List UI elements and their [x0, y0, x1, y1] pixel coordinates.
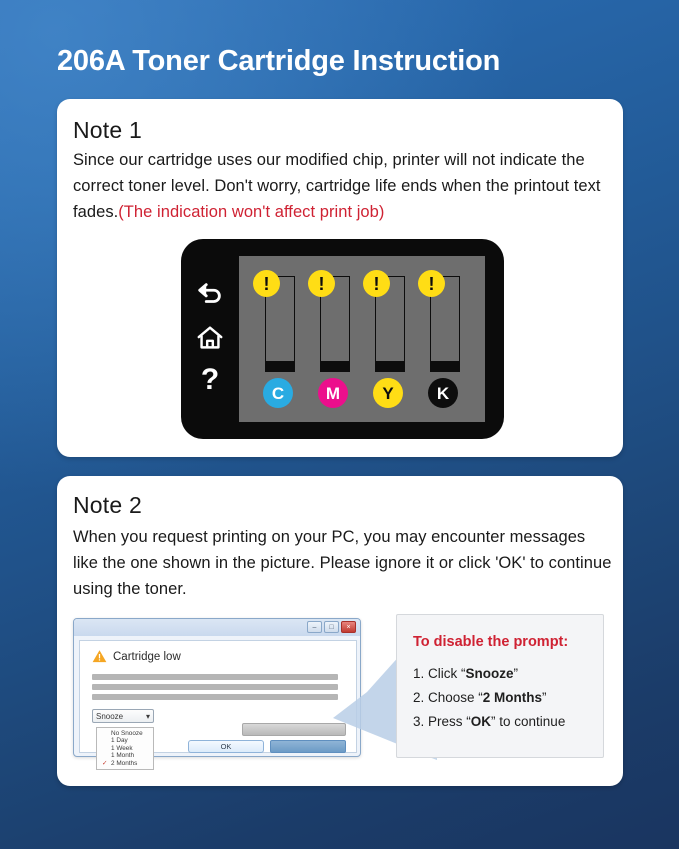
note-1-body-red-text: (The indication won't affect print job) — [118, 203, 384, 221]
placeholder-text-line — [92, 684, 338, 690]
help-icon[interactable]: ? — [195, 365, 225, 395]
dialog-title-bar: – □ × — [74, 619, 360, 636]
callout-title: To disable the prompt: — [413, 634, 568, 650]
ink-label-y: Y — [373, 378, 403, 408]
maximize-button[interactable]: □ — [324, 621, 339, 633]
ink-label-m: M — [318, 378, 348, 408]
step-number: 3. — [413, 714, 424, 729]
step-pre: Click “ — [424, 666, 465, 681]
dialog-body: Cartridge low Snooze ▾ No Snooze 1 Day 1… — [79, 640, 357, 753]
list-item[interactable]: 1 Week — [97, 745, 153, 752]
callout-step-2: 2. Choose “2 Months” — [413, 686, 597, 710]
step-number: 1. — [413, 666, 424, 681]
page-title: 206A Toner Cartridge Instruction — [57, 45, 500, 78]
snooze-dropdown-value: Snooze — [96, 712, 123, 721]
callout-step-3: 3. Press “OK” to continue — [413, 710, 597, 734]
panel-button-strip: ? — [181, 239, 239, 439]
dialog-gray-field — [242, 723, 346, 736]
step-post: ” to continue — [491, 714, 565, 729]
minimize-button[interactable]: – — [307, 621, 322, 633]
note-1-card: Note 1 Since our cartridge uses our modi… — [57, 99, 623, 457]
home-icon[interactable] — [195, 323, 225, 353]
dialog-warning-title: Cartridge low — [113, 651, 181, 663]
chevron-down-icon: ▾ — [146, 712, 150, 721]
warning-icon: ! — [418, 270, 445, 297]
note-2-body: When you request printing on your PC, yo… — [73, 524, 613, 602]
gauge-fill — [266, 361, 294, 371]
toner-gauge-group: ! C ! M ! Y — [255, 270, 469, 410]
ink-label-k: K — [428, 378, 458, 408]
cartridge-low-dialog: – □ × Cartridge low — [73, 618, 361, 757]
callout-step-1: 1. Click “Snooze” — [413, 662, 597, 686]
gauge-fill — [431, 361, 459, 371]
back-icon[interactable] — [195, 279, 225, 309]
page-content: 206A Toner Cartridge Instruction Note 1 … — [0, 0, 679, 849]
step-bold: 2 Months — [483, 690, 542, 705]
step-bold: Snooze — [466, 666, 514, 681]
toner-gauge-black: ! K — [420, 270, 466, 410]
note-1-heading: Note 1 — [73, 117, 142, 144]
toner-gauge-cyan: ! C — [255, 270, 301, 410]
warning-icon: ! — [363, 270, 390, 297]
ink-label-c: C — [263, 378, 293, 408]
warning-icon: ! — [308, 270, 335, 297]
step-pre: Press “ — [424, 714, 471, 729]
callout-step-list: 1. Click “Snooze” 2. Choose “2 Months” 3… — [413, 662, 597, 734]
placeholder-text-line — [92, 694, 338, 700]
dialog-warning-row: Cartridge low — [92, 649, 181, 664]
panel-screen: ! C ! M ! Y — [239, 256, 485, 422]
step-number: 2. — [413, 690, 424, 705]
printer-control-panel: ? ! C ! M — [181, 239, 504, 439]
note-2-card: Note 2 When you request printing on your… — [57, 476, 623, 786]
warning-triangle-icon — [92, 649, 107, 664]
disable-prompt-callout: To disable the prompt: 1. Click “Snooze”… — [396, 614, 604, 758]
step-bold: OK — [471, 714, 491, 729]
snooze-dropdown[interactable]: Snooze ▾ — [92, 709, 154, 723]
step-post: ” — [542, 690, 547, 705]
gauge-fill — [321, 361, 349, 371]
step-pre: Choose “ — [424, 690, 483, 705]
secondary-button[interactable] — [270, 740, 346, 753]
toner-gauge-magenta: ! M — [310, 270, 356, 410]
placeholder-text-line — [92, 674, 338, 680]
dialog-window-buttons: – □ × — [307, 621, 356, 633]
list-item[interactable]: 1 Month — [97, 752, 153, 759]
list-item-selected[interactable]: 2 Months — [97, 760, 153, 767]
toner-gauge-yellow: ! Y — [365, 270, 411, 410]
gauge-fill — [376, 361, 404, 371]
list-item[interactable]: 1 Day — [97, 737, 153, 744]
warning-icon: ! — [253, 270, 280, 297]
close-button[interactable]: × — [341, 621, 356, 633]
note-2-heading: Note 2 — [73, 492, 142, 519]
step-post: ” — [514, 666, 519, 681]
ok-button[interactable]: OK — [188, 740, 264, 753]
note-1-body: Since our cartridge uses our modified ch… — [73, 147, 613, 225]
snooze-options-list[interactable]: No Snooze 1 Day 1 Week 1 Month 2 Months — [96, 727, 154, 770]
list-item[interactable]: No Snooze — [97, 730, 153, 737]
